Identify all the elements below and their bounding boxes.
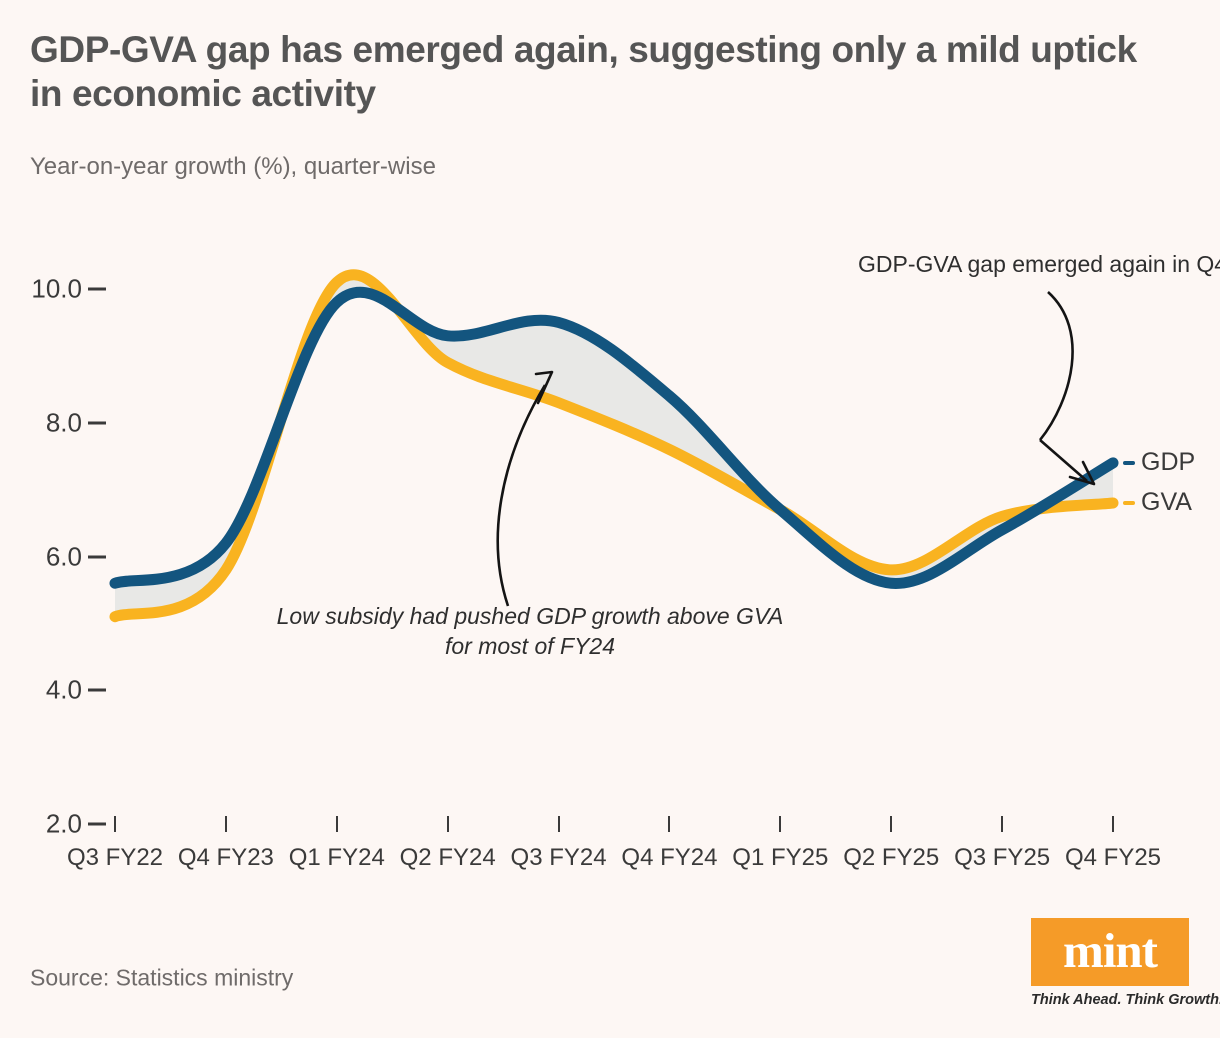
mint-logo-tagline: Think Ahead. Think Growth. [1031,992,1189,1008]
gap-band-group [115,275,1113,617]
gva-line [115,275,1113,617]
x-axis-tick-mark [779,816,781,832]
x-axis-tick-label: Q3 FY25 [954,844,1050,872]
y-axis-tick-mark [88,555,106,558]
x-axis-tick-mark [114,816,116,832]
x-axis-tick-label: Q1 FY24 [289,844,385,872]
x-axis-tick-mark [1001,816,1003,832]
gdp-gva-gap-band [115,275,1113,617]
x-axis-tick-label: Q4 FY25 [1065,844,1161,872]
x-axis-tick-label: Q3 FY22 [67,844,163,872]
x-axis-tick-mark [447,816,449,832]
x-axis-tick-label: Q4 FY23 [178,844,274,872]
x-axis-tick-mark [890,816,892,832]
y-axis-tick-mark [88,823,106,826]
x-axis-tick-label: Q3 FY24 [511,844,607,872]
x-axis-tick-mark [1112,816,1114,832]
annotation-fy24-gap: Low subsidy had pushed GDP growth above … [262,602,798,662]
legend-marker-gva [1123,501,1135,505]
y-axis-tick-label: 4.0 [12,675,82,706]
x-axis-tick-mark [336,816,338,832]
legend-marker-gdp [1123,461,1135,465]
y-axis-tick-mark [88,421,106,424]
annotation-q4-gap: GDP-GVA gap emerged again in Q4 [858,251,1220,278]
x-axis-tick-mark [225,816,227,832]
x-axis-tick-label: Q1 FY25 [732,844,828,872]
y-axis-tick-label: 10.0 [12,274,82,305]
series-lines-group [115,275,1113,617]
x-axis-tick-mark [558,816,560,832]
source-note: Source: Statistics ministry [30,965,293,992]
mint-logo-wordmark: mint [1063,926,1157,975]
q4-gap-arrow [1040,292,1073,440]
y-axis-tick-mark [88,288,106,291]
y-axis-tick-label: 8.0 [12,407,82,438]
mint-logo: mint [1031,918,1189,986]
legend-label-gdp: GDP [1141,448,1195,477]
line-chart [0,0,1220,1038]
x-axis-tick-label: Q4 FY24 [621,844,717,872]
x-axis-tick-label: Q2 FY25 [843,844,939,872]
y-axis-tick-mark [88,689,106,692]
x-axis-tick-mark [668,816,670,832]
legend-label-gva: GVA [1141,488,1192,517]
fy24-gap-arrow [498,385,545,606]
y-axis-tick-label: 6.0 [12,541,82,572]
y-axis-tick-label: 2.0 [12,809,82,840]
x-axis-tick-label: Q2 FY24 [400,844,496,872]
q4-gap-arrow-tail [1040,440,1087,481]
